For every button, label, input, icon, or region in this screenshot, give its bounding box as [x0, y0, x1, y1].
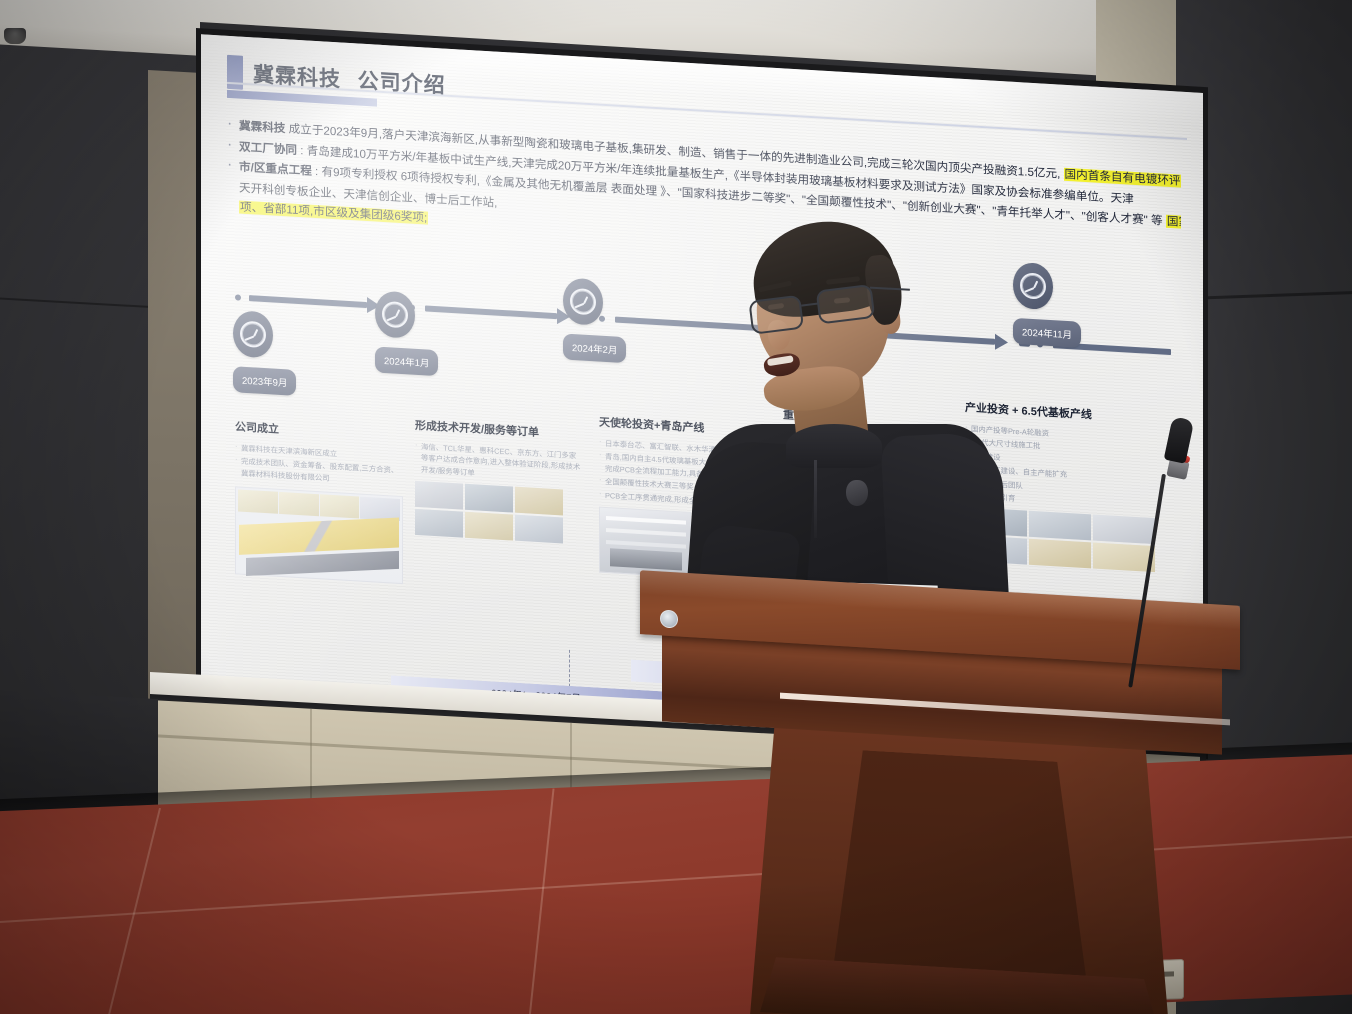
- jacket-logo: [846, 480, 868, 506]
- timeline-date: 2024年1月: [375, 346, 438, 376]
- bullet-lead: 冀霖科技: [239, 120, 285, 136]
- microphone-stem: [1128, 474, 1166, 688]
- clock-icon: [233, 310, 273, 358]
- milestone-line: 海信、TCL华星、惠科CEC、京东方、江门多家等客户达成合作意向,进入整体验证阶…: [415, 441, 583, 485]
- milestone-column: 公司成立 冀霖科技在天津滨海新区成立 完成技术团队、资金筹备、股东配置,三方合资…: [235, 418, 403, 584]
- gooseneck-microphone[interactable]: [1132, 418, 1252, 688]
- timeline-date: 2024年2月: [563, 333, 626, 363]
- clock-icon: [375, 290, 415, 338]
- clock-icon: [1013, 262, 1053, 310]
- milestone-body: 冀霖科技在天津滨海新区成立 完成技术团队、资金筹备、股东配置,三方合资、冀霖材料…: [235, 442, 403, 488]
- milestone-column: 形成技术开发/服务等订单 海信、TCL华星、惠科CEC、京东方、江门多家等客户达…: [415, 417, 583, 545]
- presenter-collar: [786, 424, 882, 468]
- milestone-heading: 形成技术开发/服务等订单: [415, 417, 583, 443]
- timeline-node: 2024年2月: [563, 277, 626, 363]
- factory-photo: [599, 507, 691, 578]
- product-photo: [235, 487, 403, 585]
- presenter-zipper: [814, 460, 817, 538]
- timeline-node: 2024年11月: [1013, 262, 1081, 348]
- conference-room-scene: 冀霖科技 公司介绍 冀霖科技 成立于2023年9月,落户天津滨海新区,从事新型陶…: [0, 0, 1352, 1014]
- timeline-node: 2024年1月: [375, 290, 438, 376]
- milestone-heading: 公司成立: [235, 418, 403, 444]
- substrate-illustration-2: [246, 551, 399, 576]
- bullet-lead: 双工厂协同: [239, 140, 297, 156]
- milestone-body: 海信、TCL华星、惠科CEC、京东方、江门多家等客户达成合作意向,进入整体验证阶…: [415, 441, 583, 485]
- timeline-date: 2024年11月: [1013, 318, 1081, 348]
- ceiling-light-fixture: [4, 28, 26, 44]
- clock-icon: [563, 277, 603, 325]
- lectern-emblem: [660, 609, 678, 628]
- client-logo-grid: [415, 481, 563, 544]
- bullet-highlight-tail: 国家级2: [1166, 215, 1181, 231]
- bullet-lead: 市/区重点工程: [239, 161, 312, 178]
- substrate-illustration: [239, 518, 399, 555]
